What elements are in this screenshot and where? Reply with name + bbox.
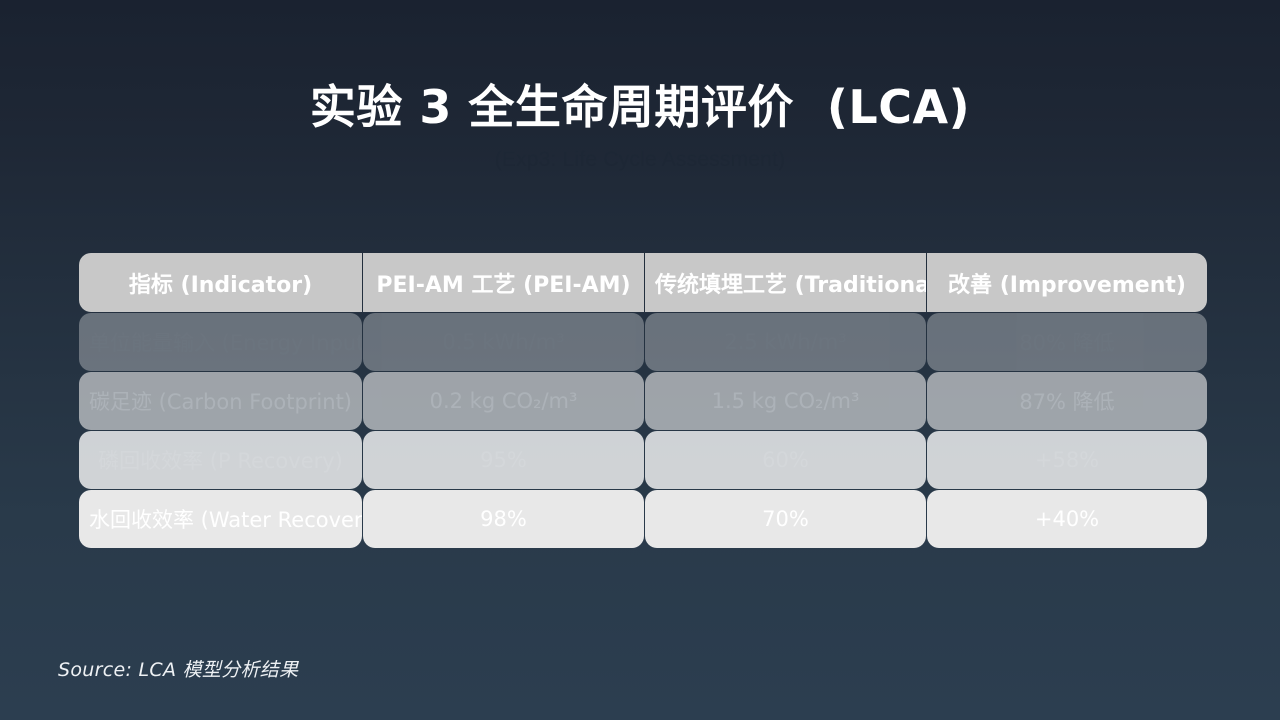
cell-improvement: 80% 降低 bbox=[927, 313, 1207, 371]
column-header-indicator: 指标 (Indicator) bbox=[79, 253, 362, 312]
column-header-traditional: 传统填埋工艺 (Traditional) bbox=[645, 253, 926, 312]
column-header-improvement: 改善 (Improvement) bbox=[927, 253, 1207, 312]
title-block: 实验 3 全生命周期评价 (LCA) (Exp3: Life Cycle Ass… bbox=[0, 82, 1280, 172]
page-subtitle: (Exp3: Life Cycle Assessment) bbox=[0, 148, 1280, 172]
cell-indicator: 磷回收效率 (P Recovery) bbox=[79, 431, 362, 489]
lca-table-container: 指标 (Indicator) PEI-AM 工艺 (PEI-AM) 传统填埋工艺… bbox=[78, 252, 1203, 549]
table-header-row: 指标 (Indicator) PEI-AM 工艺 (PEI-AM) 传统填埋工艺… bbox=[79, 253, 1207, 312]
cell-traditional: 1.5 kg CO₂/m³ bbox=[645, 372, 926, 430]
cell-improvement: +40% bbox=[927, 490, 1207, 548]
cell-pei-am: 0.5 kWh/m³ bbox=[363, 313, 644, 371]
table-row: 水回收效率 (Water Recovery) 98% 70% +40% bbox=[79, 490, 1207, 548]
table-row: 碳足迹 (Carbon Footprint) 0.2 kg CO₂/m³ 1.5… bbox=[79, 372, 1207, 430]
cell-improvement: +58% bbox=[927, 431, 1207, 489]
cell-indicator: 水回收效率 (Water Recovery) bbox=[79, 490, 362, 548]
cell-traditional: 70% bbox=[645, 490, 926, 548]
cell-improvement: 87% 降低 bbox=[927, 372, 1207, 430]
table-body: 单位能量输入 (Energy Input) 0.5 kWh/m³ 2.5 kWh… bbox=[79, 313, 1207, 548]
cell-traditional: 60% bbox=[645, 431, 926, 489]
page-title: 实验 3 全生命周期评价 (LCA) bbox=[0, 82, 1280, 134]
column-header-pei-am: PEI-AM 工艺 (PEI-AM) bbox=[363, 253, 644, 312]
cell-indicator: 碳足迹 (Carbon Footprint) bbox=[79, 372, 362, 430]
cell-traditional: 2.5 kWh/m³ bbox=[645, 313, 926, 371]
source-note: Source: LCA 模型分析结果 bbox=[58, 655, 298, 682]
lca-comparison-table: 指标 (Indicator) PEI-AM 工艺 (PEI-AM) 传统填埋工艺… bbox=[78, 252, 1208, 549]
slide-root: 实验 3 全生命周期评价 (LCA) (Exp3: Life Cycle Ass… bbox=[0, 0, 1280, 720]
cell-indicator: 单位能量输入 (Energy Input) bbox=[79, 313, 362, 371]
cell-pei-am: 95% bbox=[363, 431, 644, 489]
cell-pei-am: 98% bbox=[363, 490, 644, 548]
table-row: 磷回收效率 (P Recovery) 95% 60% +58% bbox=[79, 431, 1207, 489]
table-row: 单位能量输入 (Energy Input) 0.5 kWh/m³ 2.5 kWh… bbox=[79, 313, 1207, 371]
cell-pei-am: 0.2 kg CO₂/m³ bbox=[363, 372, 644, 430]
table-header: 指标 (Indicator) PEI-AM 工艺 (PEI-AM) 传统填埋工艺… bbox=[79, 253, 1207, 312]
